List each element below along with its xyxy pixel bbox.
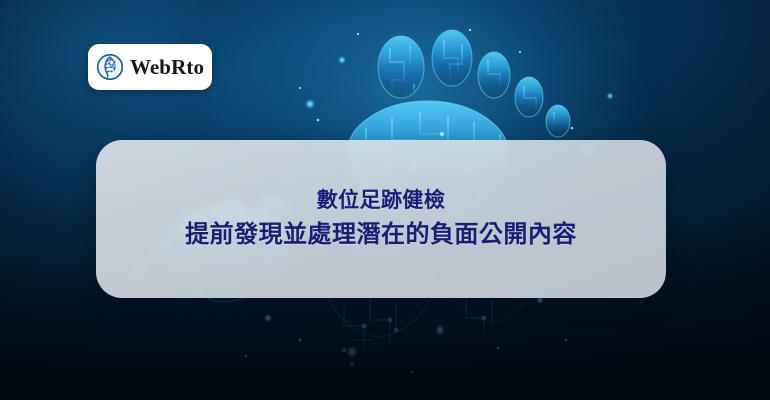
hero-headline: 數位足跡健檢 xyxy=(317,187,446,215)
logo-text: WebRto xyxy=(130,57,204,78)
logo-badge[interactable]: WebRto xyxy=(88,44,212,90)
globe-network-icon xyxy=(96,53,124,81)
hero-card: 數位足跡健檢 提前發現並處理潛在的負面公開內容 xyxy=(96,140,666,298)
hero-subheadline: 提前發現並處理潛在的負面公開內容 xyxy=(185,219,577,251)
promo-banner: WebRto 數位足跡健檢 提前發現並處理潛在的負面公開內容 xyxy=(0,0,770,400)
